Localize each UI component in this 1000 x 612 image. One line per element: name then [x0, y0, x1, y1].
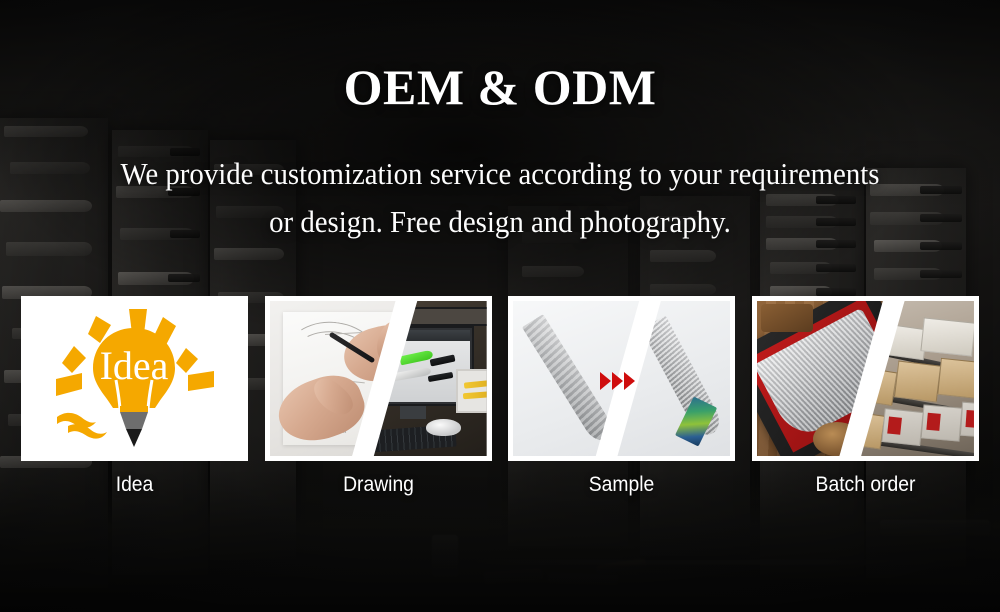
drawing-illustration: knife of blade Sketch dimensions [270, 301, 487, 456]
process-card-idea[interactable]: Idea [21, 296, 248, 461]
label-sample: Sample [517, 470, 726, 506]
sample-illustration [513, 301, 730, 456]
process-card-row: Idea knife of blade [21, 296, 979, 461]
subtitle-line-1: We provide customization service accordi… [82, 150, 919, 198]
process-card-drawing[interactable]: knife of blade Sketch dimensions [265, 296, 492, 461]
process-card-batch-order[interactable] [752, 296, 979, 461]
banner-stage: OEM & ODM We provide customization servi… [0, 0, 1000, 612]
idea-illustration: Idea [26, 301, 243, 456]
label-drawing: Drawing [274, 470, 483, 506]
transform-arrows-icon [600, 372, 635, 390]
batch-order-illustration [757, 301, 974, 456]
process-card-sample[interactable] [508, 296, 735, 461]
idea-bulb-text: Idea [100, 343, 169, 388]
subtitle-line-2: or design. Free design and photography. [82, 198, 919, 246]
page-title: OEM & ODM [0, 62, 1000, 112]
process-label-row: Idea Drawing Sample Batch order [21, 470, 979, 506]
idea-bulb-icon: Idea [26, 301, 243, 456]
label-batch-order: Batch order [761, 470, 970, 506]
label-idea: Idea [30, 470, 239, 506]
